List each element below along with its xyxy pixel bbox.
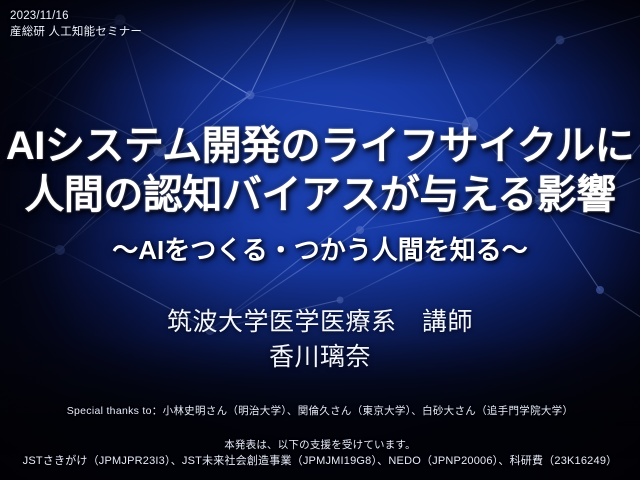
title-line-1: AIシステム開発のライフサイクルに [0,122,640,171]
presenter-name: 香川璃奈 [0,340,640,375]
special-thanks-text: Special thanks to：小林史明さん（明治大学）、関倫久さん（東京大… [0,403,640,418]
presenter-block: 筑波大学医学医療系 講師 香川璃奈 [0,305,640,374]
slide-title: AIシステム開発のライフサイクルに 人間の認知バイアスが与える影響 [0,122,640,220]
title-line-2: 人間の認知バイアスが与える影響 [0,171,640,220]
slide-subtitle: 〜AIをつくる・つかう人間を知る〜 [0,230,640,267]
funding-block: 本発表は、以下の支援を受けています。 JSTさきがけ（JPMJPR23I3）、J… [0,437,640,470]
funding-heading: 本発表は、以下の支援を受けています。 [0,437,640,453]
header-date: 2023/11/16 [10,8,142,24]
presentation-slide: 2023/11/16 産総研 人工知能セミナー AIシステム開発のライフサイクル… [0,0,640,480]
header-event-name: 産総研 人工知能セミナー [10,24,142,40]
slide-header: 2023/11/16 産総研 人工知能セミナー [10,8,142,41]
funding-grants: JSTさきがけ（JPMJPR23I3）、JST未来社会創造事業（JPMJMI19… [0,453,640,470]
presenter-affiliation: 筑波大学医学医療系 講師 [0,305,640,340]
